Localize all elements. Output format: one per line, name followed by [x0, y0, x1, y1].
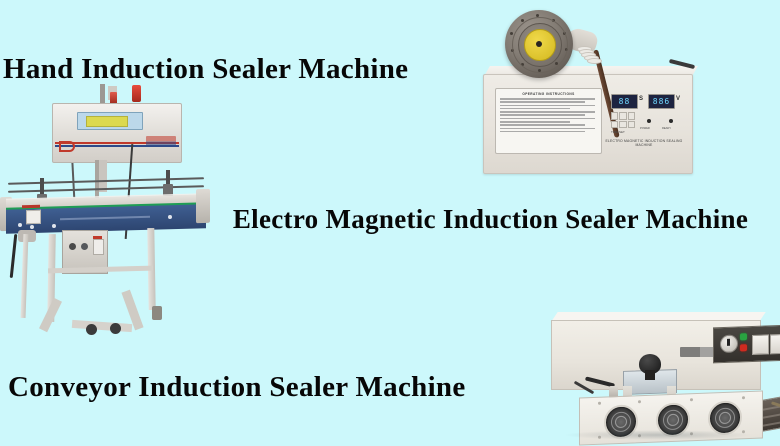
control-dial[interactable]	[720, 334, 738, 353]
keypad-key[interactable]	[628, 112, 635, 120]
start-button[interactable]	[740, 333, 747, 340]
keypad-key[interactable]	[611, 112, 618, 120]
instruction-line	[500, 121, 570, 123]
instruction-line	[500, 98, 595, 100]
timer-display: 88	[611, 94, 638, 109]
induction-sealer-head	[52, 103, 182, 163]
ready-indicator-led	[669, 119, 673, 123]
keypad-key[interactable]	[619, 112, 626, 120]
timer-keypad[interactable]	[611, 112, 635, 128]
voltage-display: 886	[648, 94, 675, 109]
instruction-line	[500, 118, 595, 120]
instruction-line	[500, 114, 585, 116]
speed-knob	[69, 243, 76, 250]
stand-base-left	[39, 298, 62, 333]
lcd-screen	[86, 116, 128, 127]
timer-keypad-caption: TIME SET	[611, 130, 625, 134]
instruction-line	[500, 101, 585, 103]
power-indicator-caption: POWER	[640, 127, 650, 130]
brand-wordmark	[146, 136, 176, 147]
power-switch	[93, 239, 104, 255]
tunnel-brand-label	[680, 347, 716, 357]
height-adjust-stem	[645, 370, 655, 380]
promo-banner: Hand Induction Sealer Machine Electro Ma…	[0, 0, 780, 440]
ground-shadow	[563, 430, 753, 440]
instruction-line	[500, 108, 570, 110]
operating-instructions-label: OPERATING INSTRUCTIONS	[495, 88, 602, 154]
sealing-head-center-port	[536, 41, 542, 47]
keypad-key[interactable]	[611, 121, 618, 129]
cord-strain-relief	[577, 46, 603, 64]
stand-leg-far-left	[21, 234, 29, 318]
control-display-panel	[77, 112, 143, 130]
voltage-display-unit: V	[676, 96, 680, 102]
machine-nameplate-text: ELECTRO MAGNETIC INDUCTION SEALING MACHI…	[601, 139, 687, 147]
product-image-conveyor-tunnel-sealer	[543, 308, 780, 440]
product-image-conveyor-induction-sealer	[0, 84, 215, 334]
ready-indicator-caption: READY	[662, 127, 671, 130]
breaker-switch-1[interactable]	[752, 334, 769, 355]
caster-wheel-right	[110, 323, 121, 334]
instruction-line	[500, 124, 585, 126]
instruction-line	[500, 128, 595, 130]
stand-base-bottom	[72, 320, 132, 332]
selector-knob	[81, 243, 88, 250]
brand-logo-icon	[59, 137, 79, 151]
machine-rating-label	[26, 210, 41, 224]
keypad-key[interactable]	[628, 121, 635, 129]
warning-tag	[22, 205, 40, 209]
power-cable-lower	[10, 234, 18, 278]
power-indicator-led	[647, 119, 651, 123]
title-hand-induction-sealer: Hand Induction Sealer Machine	[3, 53, 408, 85]
stop-button[interactable]	[740, 344, 747, 351]
instruction-line	[500, 111, 595, 113]
title-electro-magnetic-induction-sealer: Electro Magnetic Induction Sealer Machin…	[218, 198, 763, 241]
product-image-electro-magnetic-induction-sealer: OPERATING INSTRUCTIONS 88 S 886 V TIME S…	[483, 2, 698, 174]
tunnel-control-panel	[713, 325, 780, 364]
instruction-line	[500, 105, 595, 107]
caster-wheel-left	[86, 324, 97, 335]
breaker-switch-2[interactable]	[770, 334, 780, 355]
stand-foot-right	[152, 306, 162, 320]
conveyor-end-right	[196, 189, 210, 223]
keypad-key[interactable]	[619, 121, 626, 129]
timer-display-unit: S	[639, 96, 643, 102]
indicator-lamp	[132, 85, 141, 102]
operating-instructions-title: OPERATING INSTRUCTIONS	[500, 92, 597, 96]
instruction-line	[500, 131, 585, 133]
title-conveyor-induction-sealer: Conveyor Induction Sealer Machine	[8, 371, 466, 403]
